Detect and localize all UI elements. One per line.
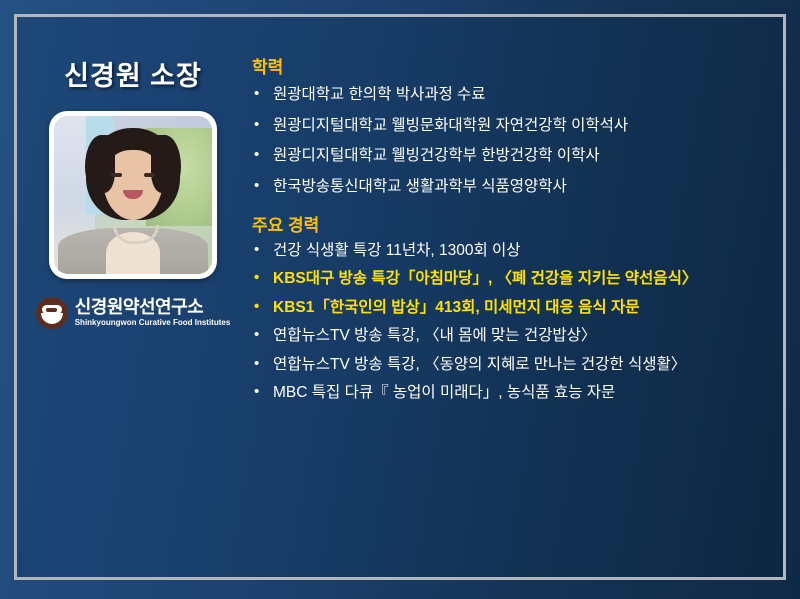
- logo-text-group: 신경원약선연구소 Shinkyoungwon Curative Food Ins…: [75, 298, 231, 327]
- content-column: 학력 원광대학교 한의학 박사과정 수료원광디지털대학교 웰빙문화대학원 자연건…: [252, 58, 776, 414]
- profile-column: 신경원 소장: [22, 40, 244, 540]
- logo-english-name: Shinkyoungwon Curative Food Institutes: [75, 319, 231, 327]
- career-item: 연합뉴스TV 방송 특강, 〈동양의 지혜로 만나는 건강한 식생활〉: [252, 357, 776, 373]
- education-item: 원광디지털대학교 웰빙건강학부 한방건강학 이학사: [252, 148, 776, 164]
- presentation-slide: 신경원 소장: [0, 0, 800, 599]
- career-item: KBS대구 방송 특강「아침마당」, 〈폐 건강을 지키는 약선음식〉: [252, 271, 776, 287]
- career-item: MBC 특집 다큐『 농업이 미래다」, 농식품 효능 자문: [252, 385, 776, 401]
- career-item: KBS1「한국인의 밥상」413회, 미세먼지 대응 음식 자문: [252, 300, 776, 316]
- career-list: 건강 식생활 특강 11년차, 1300회 이상KBS대구 방송 특강「아침마당…: [252, 243, 776, 401]
- section-title-career: 주요 경력: [252, 216, 776, 236]
- education-item: 한국방송통신대학교 생활과학부 식품영양학사: [252, 179, 776, 195]
- education-item: 원광대학교 한의학 박사과정 수료: [252, 87, 776, 103]
- photo-eye-right: [144, 173, 155, 177]
- portrait-photo: [54, 116, 212, 274]
- career-item: 연합뉴스TV 방송 특강, 〈내 몸에 맞는 건강밥상〉: [252, 328, 776, 344]
- logo-korean-name: 신경원약선연구소: [75, 298, 231, 316]
- career-item: 건강 식생활 특강 11년차, 1300회 이상: [252, 243, 776, 259]
- photo-eye-left: [111, 173, 122, 177]
- organization-logo: 신경원약선연구소 Shinkyoungwon Curative Food Ins…: [22, 297, 244, 329]
- education-item: 원광디지털대학교 웰빙문화대학원 자연건강학 이학석사: [252, 118, 776, 134]
- portrait-photo-frame: [49, 111, 217, 279]
- photo-hair-left: [85, 135, 115, 193]
- bowl-logo-icon: [36, 297, 68, 329]
- person-name: 신경원 소장: [22, 62, 244, 92]
- education-list: 원광대학교 한의학 박사과정 수료원광디지털대학교 웰빙문화대학원 자연건강학 …: [252, 87, 776, 194]
- bowl-shape: [41, 313, 63, 324]
- section-title-education: 학력: [252, 58, 776, 78]
